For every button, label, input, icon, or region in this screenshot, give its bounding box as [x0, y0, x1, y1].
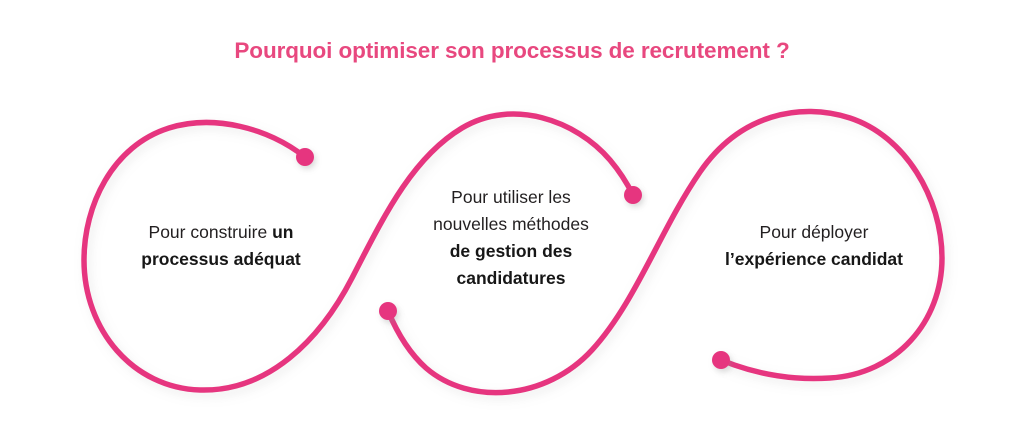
endpoint-dot-4: [712, 351, 730, 369]
node-label-1: Pour construire un processus adéquat: [125, 219, 317, 273]
node-1-regular-text: Pour construire: [149, 222, 268, 242]
node-label-3: Pour déployer l’expérience candidat: [718, 219, 910, 273]
node-label-2: Pour utiliser les nouvelles méthodes de …: [426, 184, 596, 293]
endpoint-dot-2: [624, 186, 642, 204]
node-2-bold-text: de gestion des candidatures: [450, 241, 573, 288]
endpoint-dot-1: [296, 148, 314, 166]
node-3-regular-text: Pour déployer: [760, 222, 869, 242]
node-2-regular-text: Pour utiliser les nouvelles méthodes: [433, 187, 589, 234]
endpoint-dot-3: [379, 302, 397, 320]
infographic-canvas: Pourquoi optimiser son processus de recr…: [0, 0, 1024, 441]
node-3-bold-text: l’expérience candidat: [725, 249, 903, 269]
